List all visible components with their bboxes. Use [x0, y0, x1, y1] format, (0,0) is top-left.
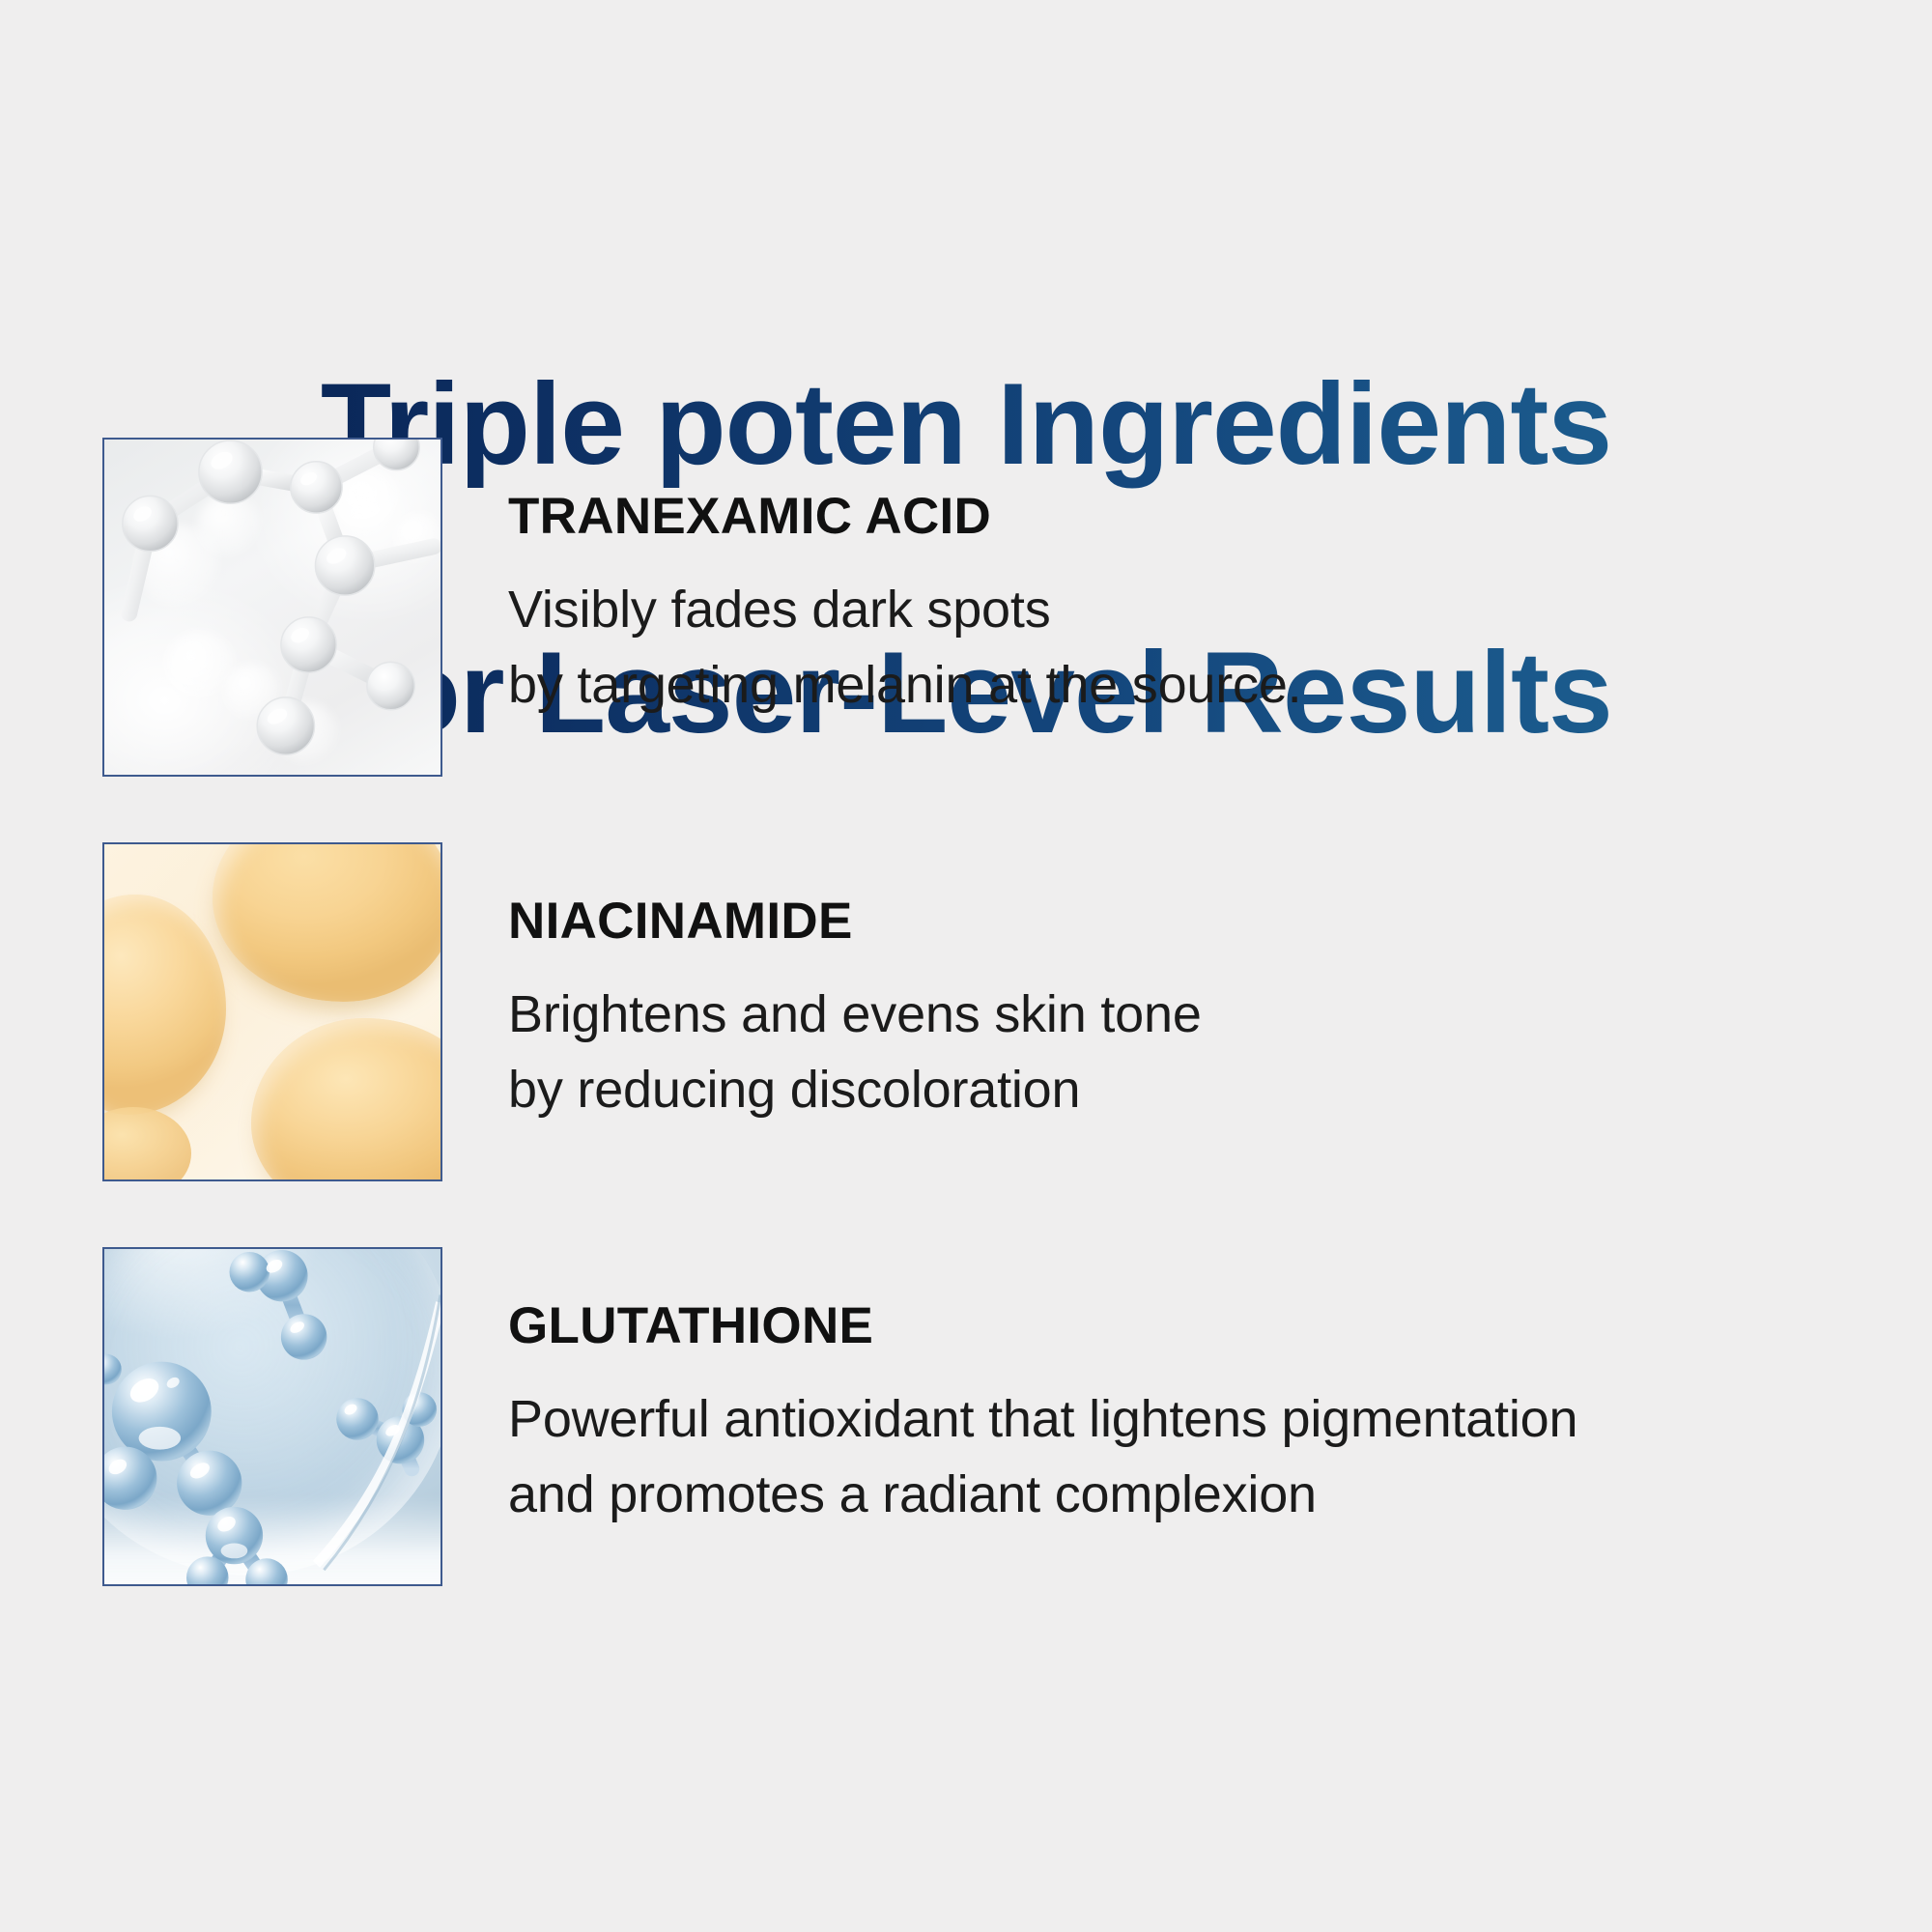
ingredient-description: Brightens and evens skin tone by reducin… [508, 978, 1932, 1128]
ingredient-name: NIACINAMIDE [508, 895, 1932, 947]
ingredient-name: TRANEXAMIC ACID [508, 491, 1932, 542]
ingredient-name: GLUTATHIONE [508, 1300, 1932, 1351]
ingredient-text: GLUTATHIONE Powerful antioxidant that li… [442, 1300, 1932, 1533]
ingredient-text: TRANEXAMIC ACID Visibly fades dark spots… [442, 491, 1932, 724]
ingredient-description: Visibly fades dark spots by targeting me… [508, 573, 1932, 724]
ingredient-item: TRANEXAMIC ACID Visibly fades dark spots… [0, 438, 1932, 777]
water-molecules-graphic [104, 1249, 440, 1584]
amber-serum-droplets-thumbnail [102, 842, 442, 1181]
ingredient-description: Powerful antioxidant that lightens pigme… [508, 1382, 1932, 1533]
blue-bubble-molecules-thumbnail [102, 1247, 442, 1586]
molecule-lattice-clear-thumbnail [102, 438, 442, 777]
ingredient-text: NIACINAMIDE Brightens and evens skin ton… [442, 895, 1932, 1128]
infographic-page: Triple poten Ingredients For Laser-Level… [0, 0, 1932, 1932]
ingredient-list: TRANEXAMIC ACID Visibly fades dark spots… [0, 438, 1932, 1586]
ingredient-item: GLUTATHIONE Powerful antioxidant that li… [0, 1247, 1932, 1586]
ingredient-item: NIACINAMIDE Brightens and evens skin ton… [0, 842, 1932, 1181]
molecule-bonds-graphic [104, 440, 440, 775]
